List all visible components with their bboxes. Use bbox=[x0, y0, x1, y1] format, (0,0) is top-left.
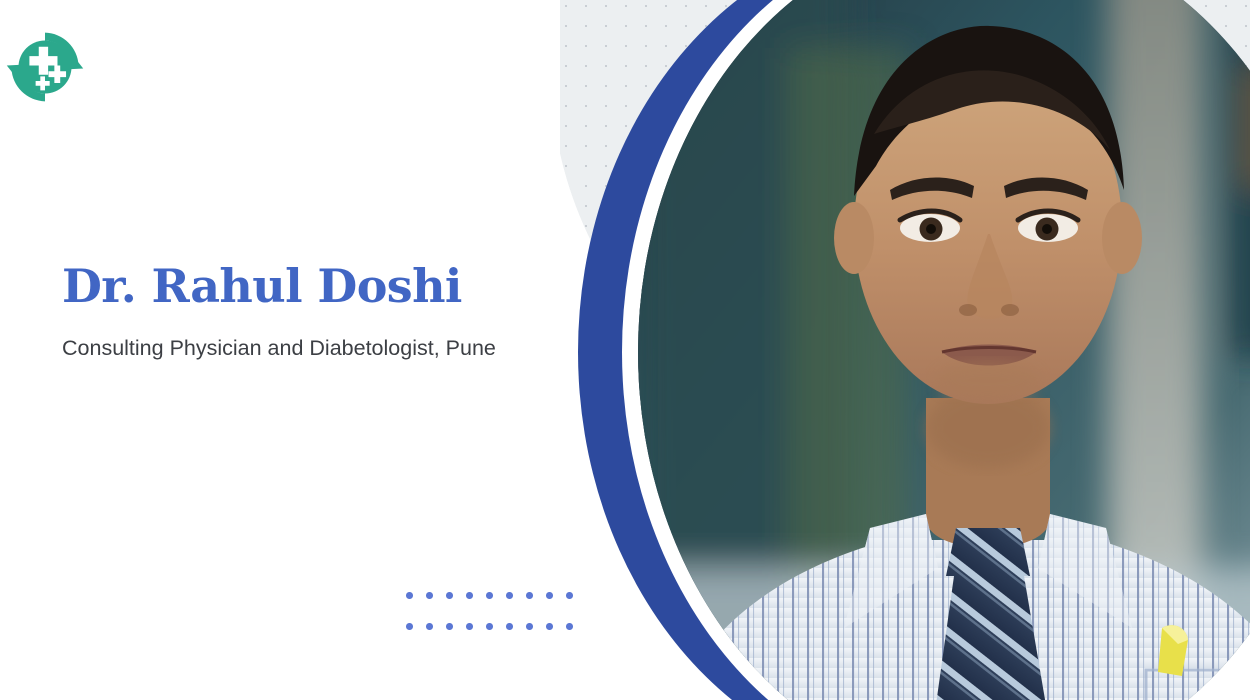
decor-dot bbox=[486, 623, 493, 630]
decor-dot bbox=[466, 592, 473, 599]
headline-block: Dr. Rahul Doshi Consulting Physician and… bbox=[62, 262, 602, 363]
doctor-name: Dr. Rahul Doshi bbox=[62, 262, 602, 311]
decor-dot bbox=[486, 592, 493, 599]
decor-dot bbox=[506, 623, 513, 630]
decor-dot bbox=[566, 592, 573, 599]
decor-dot bbox=[406, 623, 413, 630]
decor-dot bbox=[426, 592, 433, 599]
doctor-profile-banner: Dr. Rahul Doshi Consulting Physician and… bbox=[0, 0, 1250, 700]
decor-dot bbox=[506, 592, 513, 599]
decor-dot bbox=[466, 623, 473, 630]
medical-cross-recycle-icon[interactable] bbox=[6, 28, 84, 106]
decor-dot bbox=[566, 623, 573, 630]
decor-dot bbox=[446, 592, 453, 599]
portrait-stage bbox=[560, 0, 1250, 700]
decor-dot bbox=[526, 592, 533, 599]
doctor-role-subtitle: Consulting Physician and Diabetologist, … bbox=[62, 333, 562, 364]
decor-dot bbox=[446, 623, 453, 630]
left-content-panel: Dr. Rahul Doshi Consulting Physician and… bbox=[0, 0, 620, 700]
decor-dot bbox=[546, 592, 553, 599]
decor-dot bbox=[426, 623, 433, 630]
decor-dot bbox=[546, 623, 553, 630]
dot-grid-icon bbox=[406, 592, 576, 638]
doctor-portrait-photo bbox=[638, 0, 1250, 700]
decor-dot bbox=[406, 592, 413, 599]
decor-dot bbox=[526, 623, 533, 630]
